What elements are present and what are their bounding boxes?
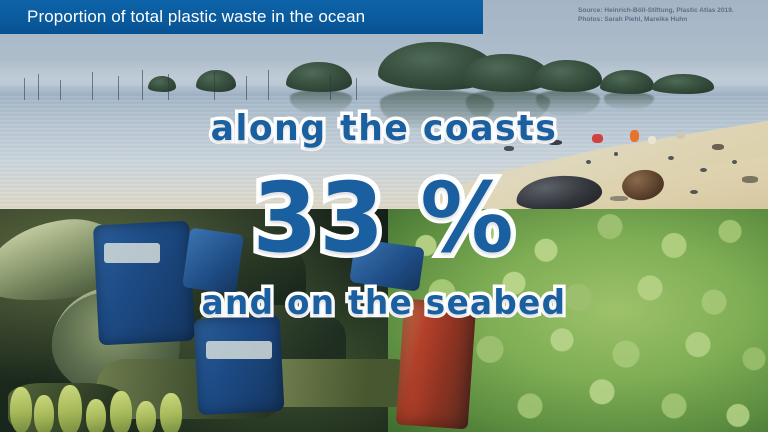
photo-seabed [0, 209, 768, 432]
tube-coral [34, 395, 54, 432]
mangrove-island [652, 74, 714, 94]
mangrove-island [600, 70, 654, 94]
beach-debris [586, 160, 591, 164]
beach-debris [690, 190, 698, 194]
stilt-root [268, 70, 269, 100]
litter-item [630, 130, 639, 142]
beach-debris [668, 156, 674, 160]
credit-block: Source: Heinrich-Böll-Stiftung, Plastic … [578, 6, 760, 24]
litter-item [592, 134, 603, 143]
beach-debris [614, 152, 618, 156]
tube-coral [86, 399, 106, 432]
credit-source: Source: Heinrich-Böll-Stiftung, Plastic … [578, 6, 760, 15]
litter-item [712, 144, 724, 150]
bottle-label [206, 341, 272, 359]
tube-coral [160, 393, 182, 432]
litter-item [504, 146, 514, 151]
stilt-root [118, 76, 119, 100]
beach-debris [430, 196, 435, 199]
credit-photos: Photos: Sarah Piehl, Mareike Huhn [578, 15, 760, 24]
tube-coral [58, 385, 82, 432]
stilt-root [330, 74, 331, 100]
beach-debris [478, 190, 484, 194]
stilt-root [356, 78, 357, 100]
litter-item [742, 176, 758, 183]
bottle-label [104, 243, 160, 263]
stilt-root [38, 74, 39, 100]
tube-coral [136, 401, 156, 432]
stilt-root [214, 72, 215, 100]
beach-debris [700, 168, 707, 172]
beach-debris [732, 160, 737, 164]
litter-item [648, 136, 656, 144]
mangrove-island [148, 76, 176, 92]
litter-item [610, 196, 628, 201]
litter-item [548, 140, 562, 145]
stilt-root [60, 80, 61, 100]
blue-plastic-bottle [182, 228, 244, 295]
stilt-root [168, 74, 169, 100]
tube-coral [110, 391, 132, 432]
stilt-root [24, 78, 25, 100]
stilt-root [246, 76, 247, 100]
litter-item [676, 132, 685, 139]
title-banner: Proportion of total plastic waste in the… [0, 0, 483, 34]
blue-plastic-can [194, 315, 285, 415]
stilt-root [92, 72, 93, 100]
infographic-poster: Proportion of total plastic waste in the… [0, 0, 768, 432]
blue-plastic-bottle [93, 221, 195, 346]
rusty-red-can [396, 299, 477, 430]
mangrove-island [196, 70, 236, 92]
tube-coral [10, 387, 32, 432]
page-title: Proportion of total plastic waste in the… [0, 7, 365, 27]
stilt-root [142, 70, 143, 100]
